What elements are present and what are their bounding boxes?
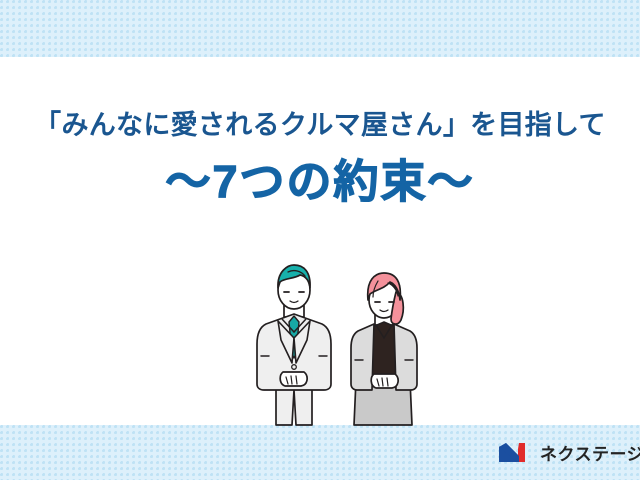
headline-text: 「みんなに愛されるクルマ屋さん」を目指して [0, 108, 640, 143]
female-staff-figure [351, 273, 417, 425]
headline-block: 「みんなに愛されるクルマ屋さん」を目指して 〜7つの約束〜 [0, 108, 640, 207]
staff-illustration-svg [228, 262, 443, 432]
nextage-n-mark-icon [497, 440, 533, 465]
nextage-logo: ネクステージ [497, 440, 640, 465]
nextage-logo-text: ネクステージ [540, 440, 640, 465]
staff-illustration [228, 262, 443, 432]
male-staff-figure [257, 265, 331, 425]
subheadline-text: 〜7つの約束〜 [0, 156, 640, 208]
top-dot-band [0, 0, 640, 57]
promotion-banner: 「みんなに愛されるクルマ屋さん」を目指して 〜7つの約束〜 [0, 0, 640, 480]
